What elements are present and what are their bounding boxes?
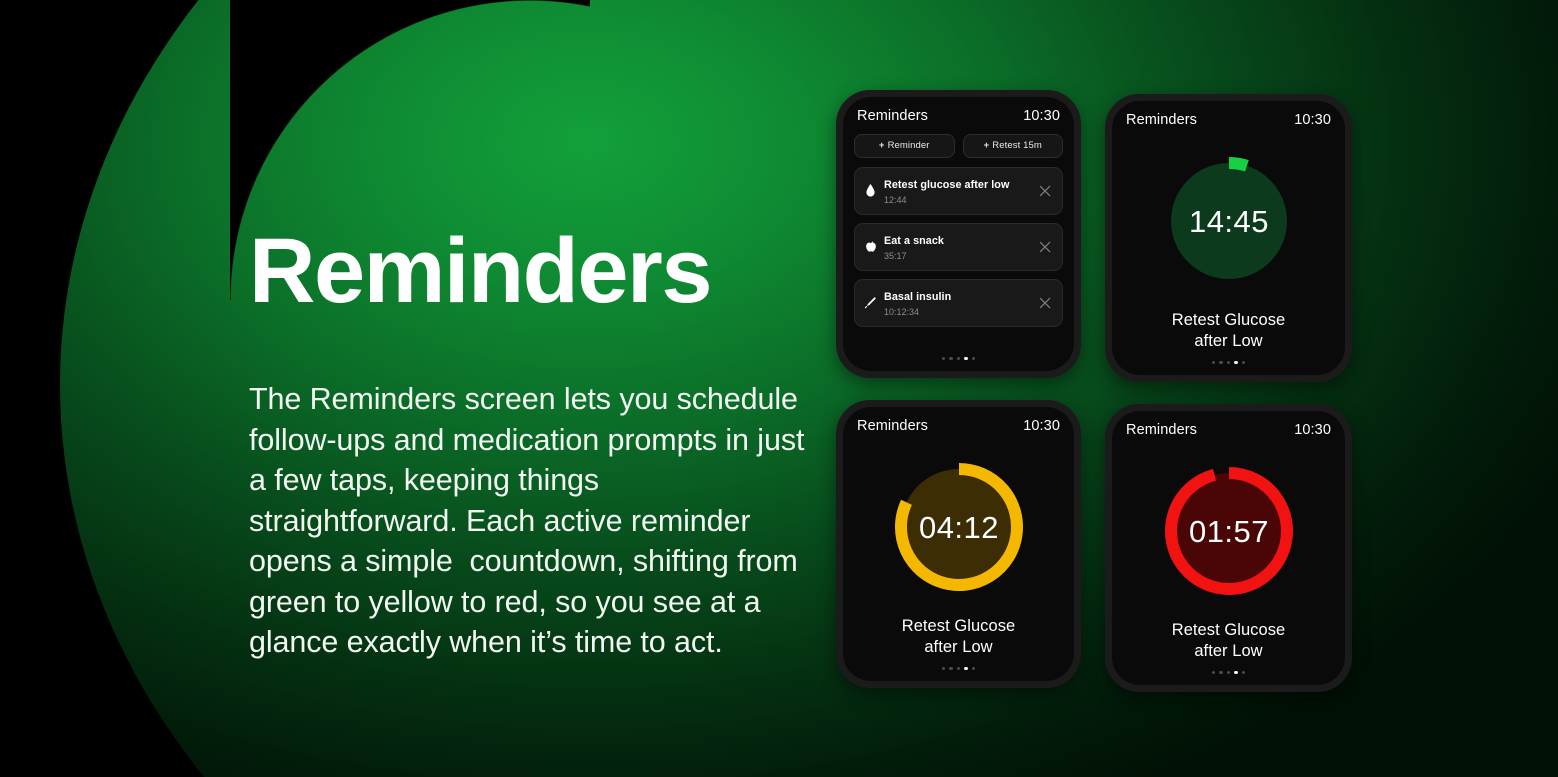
caption-line-1: Retest Glucose — [1172, 621, 1286, 639]
page-dot[interactable] — [1227, 671, 1230, 674]
add-reminder-button[interactable]: +Reminder — [854, 134, 955, 158]
countdown-ring-area[interactable]: 14:45 — [1112, 128, 1345, 310]
watch-clock: 10:30 — [1294, 112, 1331, 128]
add-retest-button[interactable]: +Retest 15m — [963, 134, 1064, 158]
page-dot[interactable] — [1234, 671, 1237, 674]
countdown-ring-area[interactable]: 04:12 — [843, 434, 1074, 616]
close-icon[interactable] — [1037, 295, 1053, 311]
list-item[interactable]: Retest glucose after low 12:44 — [854, 167, 1063, 215]
caption-line-2: after Low — [1194, 642, 1262, 660]
watch-app-title: Reminders — [857, 108, 928, 124]
reminder-title: Eat a snack — [884, 235, 944, 247]
plus-icon: + — [879, 140, 885, 151]
page-dot[interactable] — [1227, 361, 1230, 364]
countdown-ring-green: 14:45 — [1159, 151, 1299, 291]
close-icon[interactable] — [1037, 239, 1053, 255]
watch-app-title: Reminders — [1126, 422, 1197, 438]
page-dot[interactable] — [1234, 361, 1237, 364]
reminder-countdown: 10:12:34 — [884, 306, 1033, 318]
watch-mockup-timer-green: Reminders 10:30 14:45 Retest Glucose aft… — [1105, 94, 1352, 382]
page-indicator[interactable] — [1112, 352, 1345, 375]
watch-mockup-timer-yellow: Reminders 10:30 04:12 Retest Glucose aft… — [836, 400, 1081, 688]
page-dot[interactable] — [942, 357, 945, 360]
reminder-title: Retest glucose after low — [884, 179, 1009, 191]
add-retest-label: Retest 15m — [992, 140, 1042, 151]
countdown-ring-red: 01:57 — [1159, 461, 1299, 601]
countdown-value: 01:57 — [1188, 514, 1268, 549]
caption-line-1: Retest Glucose — [902, 617, 1016, 635]
watch-clock: 10:30 — [1294, 422, 1331, 438]
reminder-title: Basal insulin — [884, 291, 951, 303]
syringe-icon — [864, 295, 877, 310]
page-dot[interactable] — [1242, 671, 1245, 674]
countdown-ring-area[interactable]: 01:57 — [1112, 438, 1345, 620]
reminder-list: Retest glucose after low 12:44 Eat a sna… — [843, 158, 1074, 348]
apple-icon — [864, 239, 877, 254]
countdown-ring-yellow: 04:12 — [889, 457, 1029, 597]
watch-header: Reminders 10:30 — [1112, 101, 1345, 128]
page-dot[interactable] — [1219, 361, 1222, 364]
reminder-caption: Retest Glucose after Low — [843, 616, 1074, 658]
watch-screen-timer-yellow: Reminders 10:30 04:12 Retest Glucose aft… — [843, 407, 1074, 681]
watch-mockup-reminder-list: Reminders 10:30 +Reminder +Retest 15m — [836, 90, 1081, 378]
page-dot[interactable] — [1242, 361, 1245, 364]
droplet-icon — [864, 183, 877, 198]
page-dot[interactable] — [972, 357, 975, 360]
hero-description: The Reminders screen lets you schedule f… — [249, 379, 809, 663]
countdown-value: 04:12 — [918, 510, 998, 545]
list-item-texts: Retest glucose after low 12:44 — [884, 175, 1033, 206]
page-dot[interactable] — [942, 667, 945, 670]
hero-text-column: Reminders The Reminders screen lets you … — [249, 225, 809, 663]
watch-screen-list: Reminders 10:30 +Reminder +Retest 15m — [843, 97, 1074, 371]
page-indicator[interactable] — [843, 348, 1074, 371]
watch-clock: 10:30 — [1023, 108, 1060, 124]
page-dot[interactable] — [949, 667, 952, 670]
countdown-value: 14:45 — [1188, 204, 1268, 239]
page-dot[interactable] — [949, 357, 952, 360]
watch-mockup-timer-red: Reminders 10:30 01:57 Retest Glucose aft… — [1105, 404, 1352, 692]
plus-icon: + — [984, 140, 990, 151]
watch-app-title: Reminders — [857, 418, 928, 434]
page-dot[interactable] — [957, 357, 960, 360]
list-item-texts: Eat a snack 35:17 — [884, 231, 1033, 262]
page-dot[interactable] — [1212, 671, 1215, 674]
page-indicator[interactable] — [1112, 662, 1345, 685]
reminder-caption: Retest Glucose after Low — [1112, 620, 1345, 662]
page-dot[interactable] — [972, 667, 975, 670]
page-dot[interactable] — [1212, 361, 1215, 364]
watch-header: Reminders 10:30 — [1112, 411, 1345, 438]
watch-clock: 10:30 — [1023, 418, 1060, 434]
reminder-caption: Retest Glucose after Low — [1112, 310, 1345, 352]
list-item-texts: Basal insulin 10:12:34 — [884, 287, 1033, 318]
quick-action-row: +Reminder +Retest 15m — [843, 124, 1074, 158]
page-title: Reminders — [249, 225, 809, 317]
list-item[interactable]: Basal insulin 10:12:34 — [854, 279, 1063, 327]
watch-header: Reminders 10:30 — [843, 97, 1074, 124]
page-dot[interactable] — [957, 667, 960, 670]
page-dot[interactable] — [1219, 671, 1222, 674]
caption-line-1: Retest Glucose — [1172, 311, 1286, 329]
add-reminder-label: Reminder — [888, 140, 930, 151]
list-item[interactable]: Eat a snack 35:17 — [854, 223, 1063, 271]
reminder-countdown: 35:17 — [884, 250, 1033, 262]
watch-app-title: Reminders — [1126, 112, 1197, 128]
caption-line-2: after Low — [1194, 332, 1262, 350]
watch-header: Reminders 10:30 — [843, 407, 1074, 434]
slide-canvas: Reminders The Reminders screen lets you … — [0, 0, 1558, 777]
close-icon[interactable] — [1037, 183, 1053, 199]
page-indicator[interactable] — [843, 658, 1074, 681]
page-dot[interactable] — [964, 667, 967, 670]
reminder-countdown: 12:44 — [884, 194, 1033, 206]
watch-screen-timer-red: Reminders 10:30 01:57 Retest Glucose aft… — [1112, 411, 1345, 685]
caption-line-2: after Low — [924, 638, 992, 656]
watch-screen-timer-green: Reminders 10:30 14:45 Retest Glucose aft… — [1112, 101, 1345, 375]
page-dot[interactable] — [964, 357, 967, 360]
